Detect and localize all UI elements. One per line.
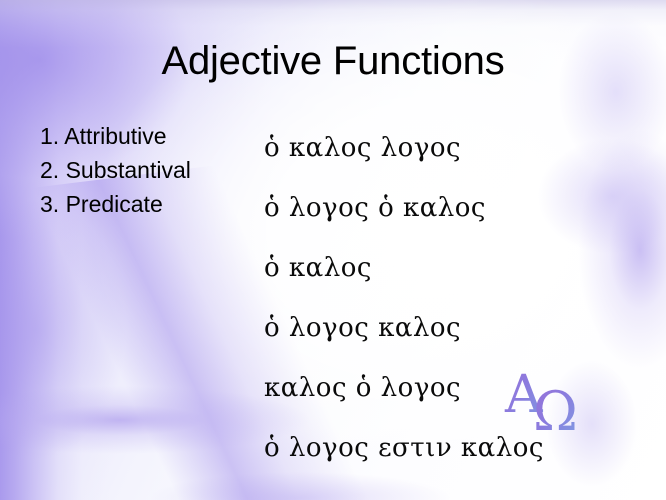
list-item: ὁ καλος (264, 238, 544, 298)
greek-example-list: ὁ καλος λογος ὁ λογος ὁ καλος ὁ καλος ὁ … (264, 118, 544, 478)
adjective-function-list: 1. Attributive 2. Substantival 3. Predic… (40, 119, 191, 221)
list-item: 2. Substantival (40, 153, 191, 187)
slide-title: Adjective Functions (0, 38, 666, 84)
list-item: ὁ καλος λογος (264, 118, 544, 178)
list-item: ὁ λογος ὁ καλος (264, 178, 544, 238)
list-item: 1. Attributive (40, 119, 191, 153)
alpha-omega-icon: Α Ω (505, 366, 589, 432)
slide-content: Adjective Functions 1. Attributive 2. Su… (0, 0, 666, 500)
list-item: ὁ λογος εστιν καλος (264, 418, 544, 478)
svg-text:Ω: Ω (533, 380, 578, 443)
list-item: καλος ὁ λογος (264, 358, 544, 418)
list-item: ὁ λογος καλος (264, 298, 544, 358)
list-item: 3. Predicate (40, 187, 191, 221)
presentation-slide: Adjective Functions 1. Attributive 2. Su… (0, 0, 666, 500)
